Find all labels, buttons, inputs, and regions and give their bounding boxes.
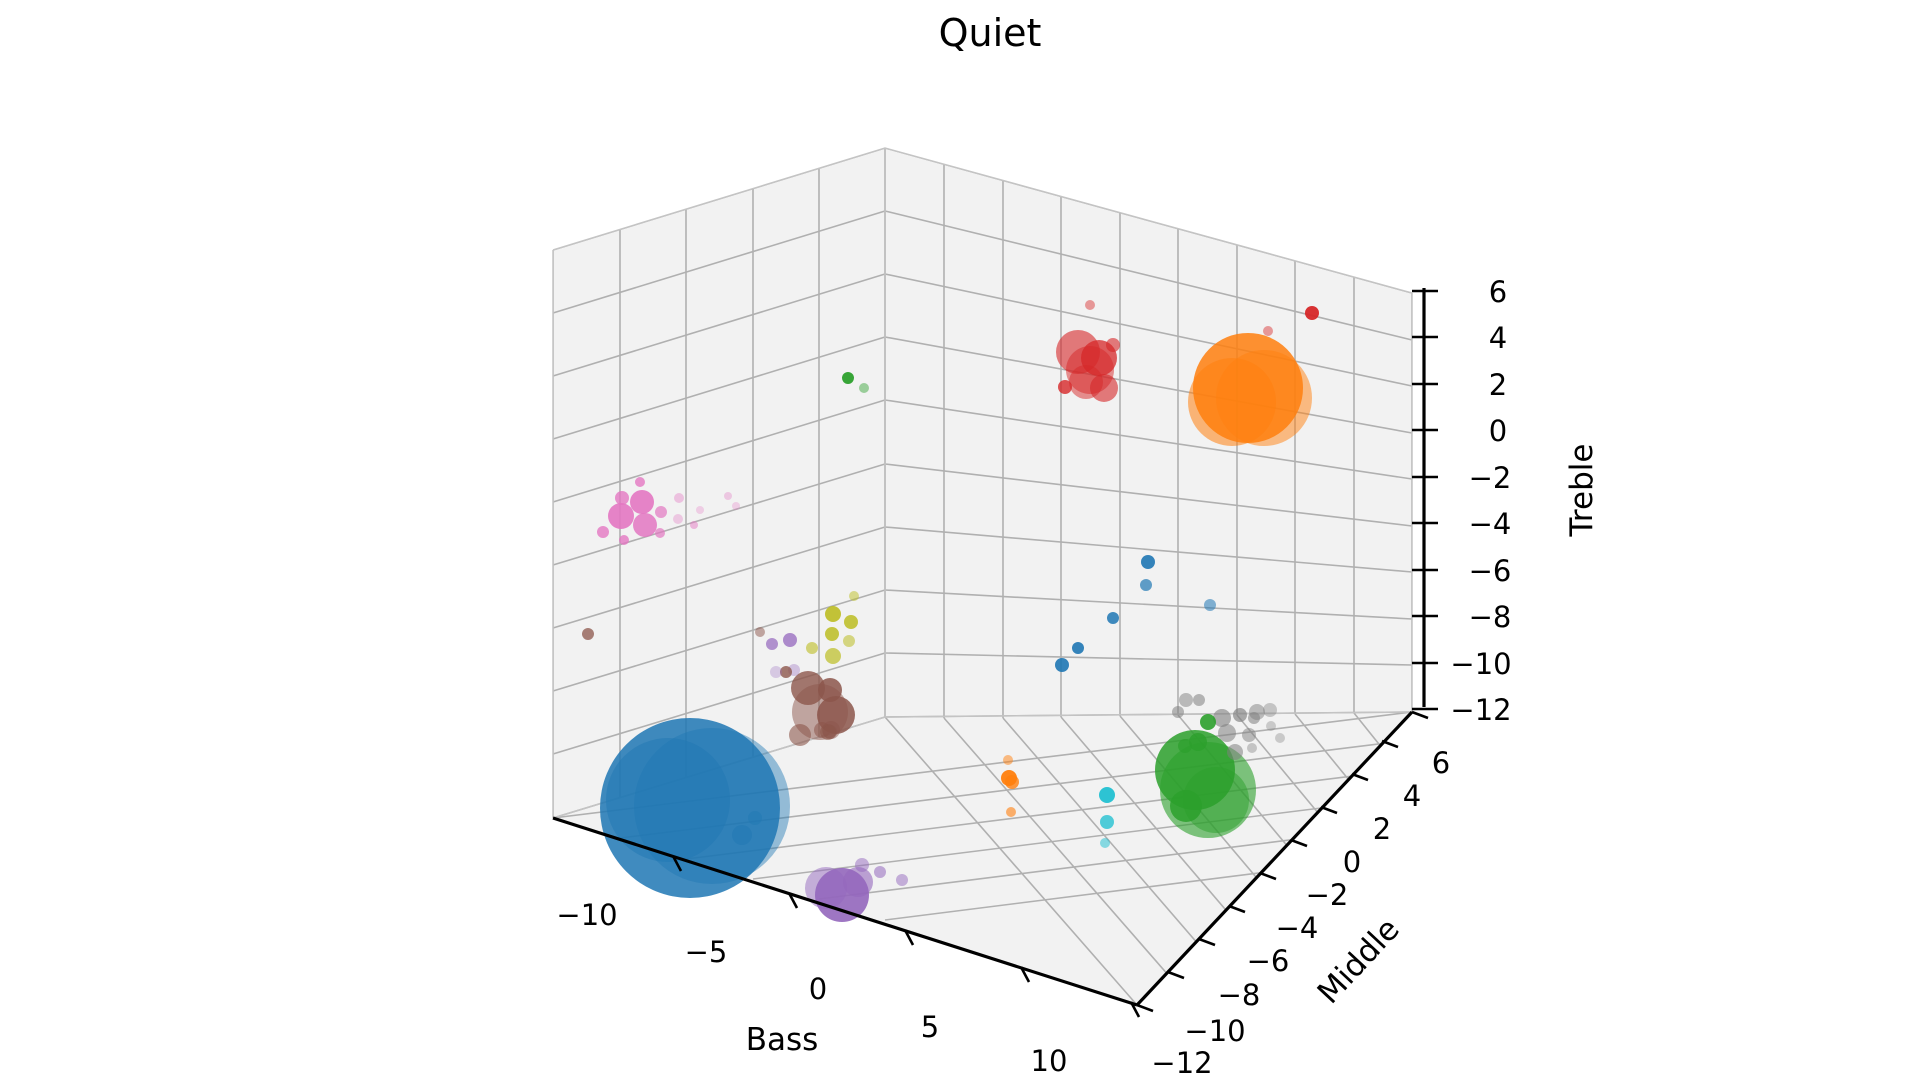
z-tick-label: 2 [1489,368,1507,402]
scatter-point [843,635,855,647]
scatter-point [783,633,797,647]
y-tick-label: 2 [1373,812,1391,846]
scatter-point [1005,775,1019,789]
scatter-point [1305,306,1319,320]
scatter-point [1141,555,1155,569]
scatter-point [825,627,839,641]
scatter-point [1275,733,1285,743]
scatter-point [825,648,841,664]
scatter-point [1090,374,1118,402]
z-tick-label: 6 [1489,275,1507,309]
scatter-point [855,858,869,872]
scatter-point [806,642,818,654]
scatter-point [615,491,629,505]
scatter-point [1172,706,1184,718]
z-tick-label: −6 [1469,554,1512,588]
scatter-point [825,606,841,622]
scatter-point [1200,714,1216,730]
y-tick-label: −12 [1151,1046,1212,1080]
scatter-point [1106,338,1120,352]
scatter-point [674,493,684,503]
scatter3d-plot: Quiet −10 −5 0 5 10 Bass −12 −10 −8 −6 −… [0,0,1920,1080]
scatter-point [818,678,842,702]
scatter-point [1242,728,1256,742]
scatter-point [1072,642,1084,654]
scatter-point [805,867,847,909]
scatter-point [655,528,665,538]
scatter-point [696,506,704,514]
scatter-point [1263,703,1277,717]
scatter-point [1189,733,1207,751]
scatter-point [630,490,654,514]
scatter-point [1170,790,1202,822]
scatter-point [1227,744,1243,760]
scatter-point [1085,300,1095,310]
scatter-point [1099,787,1115,803]
x-tick-label: 0 [809,972,827,1006]
scatter-point [1058,380,1072,394]
y-tick-label: −4 [1276,911,1319,945]
scatter-point [1100,815,1114,829]
scatter-point [843,867,873,897]
scatter-point [1218,724,1236,742]
z-tick-label: −2 [1469,461,1512,495]
scatter-point [724,492,732,500]
scatter-point [1233,708,1247,722]
z-tick-label: −12 [1450,693,1511,727]
scatter-point [844,615,858,629]
x-tick-label: 10 [1031,1044,1068,1078]
z-axis-label: Treble [1564,444,1600,538]
y-tick-label: −2 [1306,878,1349,912]
z-tick-label: −10 [1450,647,1511,681]
figure-canvas: Quiet −10 −5 0 5 10 Bass −12 −10 −8 −6 −… [0,0,1920,1080]
z-tick-label: 0 [1489,414,1507,448]
x-tick-label: 5 [921,1010,939,1044]
scatter-point [1247,743,1257,753]
scatter-point [874,866,886,878]
scatter-point [1193,694,1205,706]
z-tick-label: 4 [1489,321,1507,355]
x-tick-label: −5 [685,935,728,969]
scatter-point [748,811,762,825]
scatter-point [1003,755,1013,765]
scatter-point [606,738,730,862]
scatter-point [635,477,645,487]
scatter-point [1266,721,1276,731]
scatter-point [842,372,854,384]
scatter-point [1248,712,1260,724]
scatter-point [1263,326,1273,336]
z-tick-label: −4 [1469,507,1512,541]
scatter-point [732,825,752,845]
y-tick-label: −10 [1184,1014,1245,1048]
scatter-point [619,535,629,545]
scatter-point [1100,838,1110,848]
scatter-point [789,724,811,746]
y-tick-label: −6 [1247,944,1290,978]
scatter-point [582,628,594,640]
scatter-point [1140,579,1152,591]
y-tick-label: 4 [1403,779,1421,813]
x-axis-label: Bass [746,1022,819,1058]
scatter-point [1055,658,1069,672]
scatter-point [770,666,782,678]
scatter-point [655,506,667,518]
scatter-point [823,725,837,739]
scatter-point [1006,807,1016,817]
scatter-point [690,521,698,529]
scatter-point [766,638,778,650]
scatter-point [673,514,683,524]
scatter-point [896,874,908,886]
x-tick-label: −10 [556,898,617,932]
scatter-point [1188,358,1276,446]
chart-title: Quiet [939,11,1042,55]
scatter-point [732,502,740,510]
scatter-point [1178,739,1192,753]
scatter-point [1204,599,1216,611]
scatter-point [633,513,657,537]
scatter-point [859,383,869,393]
scatter-point [608,503,634,529]
y-tick-label: 6 [1432,746,1450,780]
y-tick-label: 0 [1343,845,1361,879]
scatter-point [849,591,859,601]
z-tick-label: −8 [1469,600,1512,634]
y-tick-label: −8 [1218,978,1261,1012]
scatter-point [597,526,609,538]
scatter-point [1179,693,1193,707]
scatter-point [1107,612,1119,624]
scatter-point [755,627,765,637]
